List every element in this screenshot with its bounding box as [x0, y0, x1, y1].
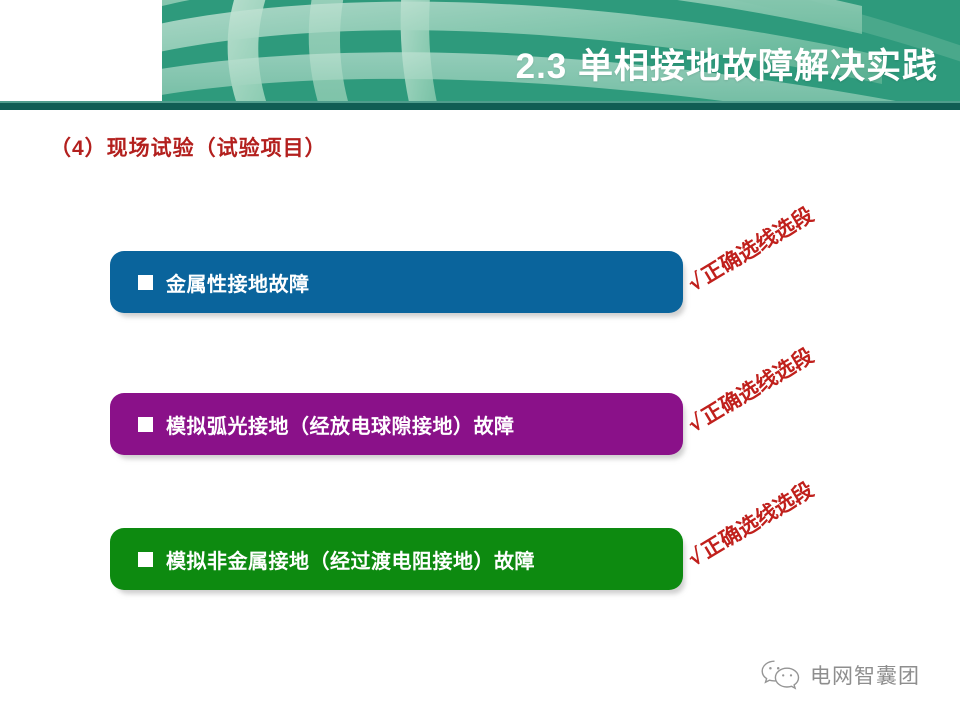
square-bullet-icon	[138, 417, 153, 432]
fault-item-metallic[interactable]: 金属性接地故障	[110, 251, 683, 313]
annotation-text: 正确选线选段	[697, 478, 817, 563]
fault-item-label: 金属性接地故障	[166, 268, 310, 297]
header-left-blank	[0, 0, 162, 101]
wechat-icon	[760, 658, 802, 692]
watermark-text: 电网智囊团	[810, 660, 920, 690]
annotation-correct-line-selection-3: √正确选线选段	[682, 474, 819, 573]
annotation-text: 正确选线选段	[697, 344, 817, 429]
annotation-correct-line-selection-1: √正确选线选段	[682, 199, 819, 298]
annotation-correct-line-selection-2: √正确选线选段	[682, 340, 819, 439]
fault-item-label: 模拟非金属接地（经过渡电阻接地）故障	[166, 545, 535, 574]
watermark: 电网智囊团	[760, 658, 920, 692]
annotation-text: 正确选线选段	[697, 203, 817, 288]
fault-item-label: 模拟弧光接地（经放电球隙接地）故障	[166, 410, 515, 439]
page-title: 2.3 单相接地故障解决实践	[516, 38, 938, 89]
square-bullet-icon	[138, 275, 153, 290]
header-rule-dark	[0, 103, 960, 110]
square-bullet-icon	[138, 552, 153, 567]
slide-header: 2.3 单相接地故障解决实践	[0, 0, 960, 101]
fault-item-arc[interactable]: 模拟弧光接地（经放电球隙接地）故障	[110, 393, 683, 455]
slide-root: 2.3 单相接地故障解决实践 （4）现场试验（试验项目） 金属性接地故障 模拟弧…	[0, 0, 960, 720]
section-subtitle: （4）现场试验（试验项目）	[50, 132, 327, 162]
fault-item-nonmetallic[interactable]: 模拟非金属接地（经过渡电阻接地）故障	[110, 528, 683, 590]
